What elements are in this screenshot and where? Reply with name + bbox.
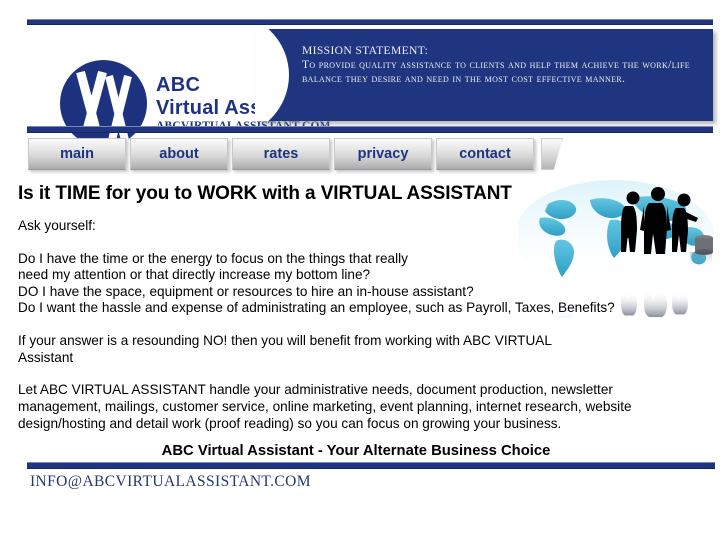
question-line: Do I have the time or the energy to focu… [18, 251, 694, 268]
nav-label: about [159, 146, 198, 162]
footer-divider-bar [27, 462, 715, 469]
nav-item-privacy[interactable]: privacy [334, 138, 432, 170]
va-monogram-icon [60, 60, 147, 147]
header-bottom-divider-bar [27, 126, 713, 133]
top-divider-bar [27, 19, 713, 25]
panel-curve-decoration [255, 29, 289, 121]
services-paragraph: Let ABC VIRTUAL ASSISTANT handle your ad… [18, 382, 670, 432]
nav-item-rates[interactable]: rates [232, 138, 330, 170]
page-root: ABC Virtual Assistant ABCVIRTUALASSISTAN… [0, 0, 727, 545]
benefit-line: Assistant [18, 350, 694, 367]
nav-label: contact [459, 146, 511, 162]
nav-label: privacy [358, 146, 409, 162]
main-navigation: main about rates privacy contact [28, 138, 563, 172]
nav-item-about[interactable]: about [130, 138, 228, 170]
question-line: Do I want the hassle and expense of admi… [18, 300, 694, 317]
question-line: DO I have the space, equipment or resour… [18, 284, 694, 301]
questions-block: Do I have the time or the energy to focu… [18, 251, 694, 317]
mission-statement-panel: MISSION STATEMENT: To provide quality as… [255, 29, 713, 121]
nav-item-contact[interactable]: contact [436, 138, 534, 170]
nav-item-main[interactable]: main [28, 138, 126, 170]
spacer [18, 317, 694, 333]
mission-statement-text: MISSION STATEMENT: To provide quality as… [302, 44, 700, 87]
ask-yourself-label: Ask yourself: [18, 218, 694, 235]
mission-statement-body: To provide quality assistance to clients… [302, 58, 690, 85]
benefit-block: If your answer is a resounding NO! then … [18, 333, 694, 366]
benefit-line: If your answer is a resounding NO! then … [18, 333, 694, 350]
spacer [18, 366, 694, 382]
nav-slant-decoration [541, 138, 563, 170]
company-tagline: ABC Virtual Assistant - Your Alternate B… [18, 443, 694, 459]
contact-email-link[interactable]: INFO@ABCVIRTUALASSISTANT.COM [30, 473, 311, 491]
nav-label: main [60, 146, 94, 162]
question-line: need my attention or that directly incre… [18, 267, 694, 284]
nav-label: rates [264, 146, 299, 162]
page-headline: Is it TIME for you to WORK with a VIRTUA… [18, 183, 694, 205]
mission-statement-title: MISSION STATEMENT: [302, 44, 700, 58]
spacer [18, 235, 694, 251]
main-content: Is it TIME for you to WORK with a VIRTUA… [18, 183, 694, 459]
